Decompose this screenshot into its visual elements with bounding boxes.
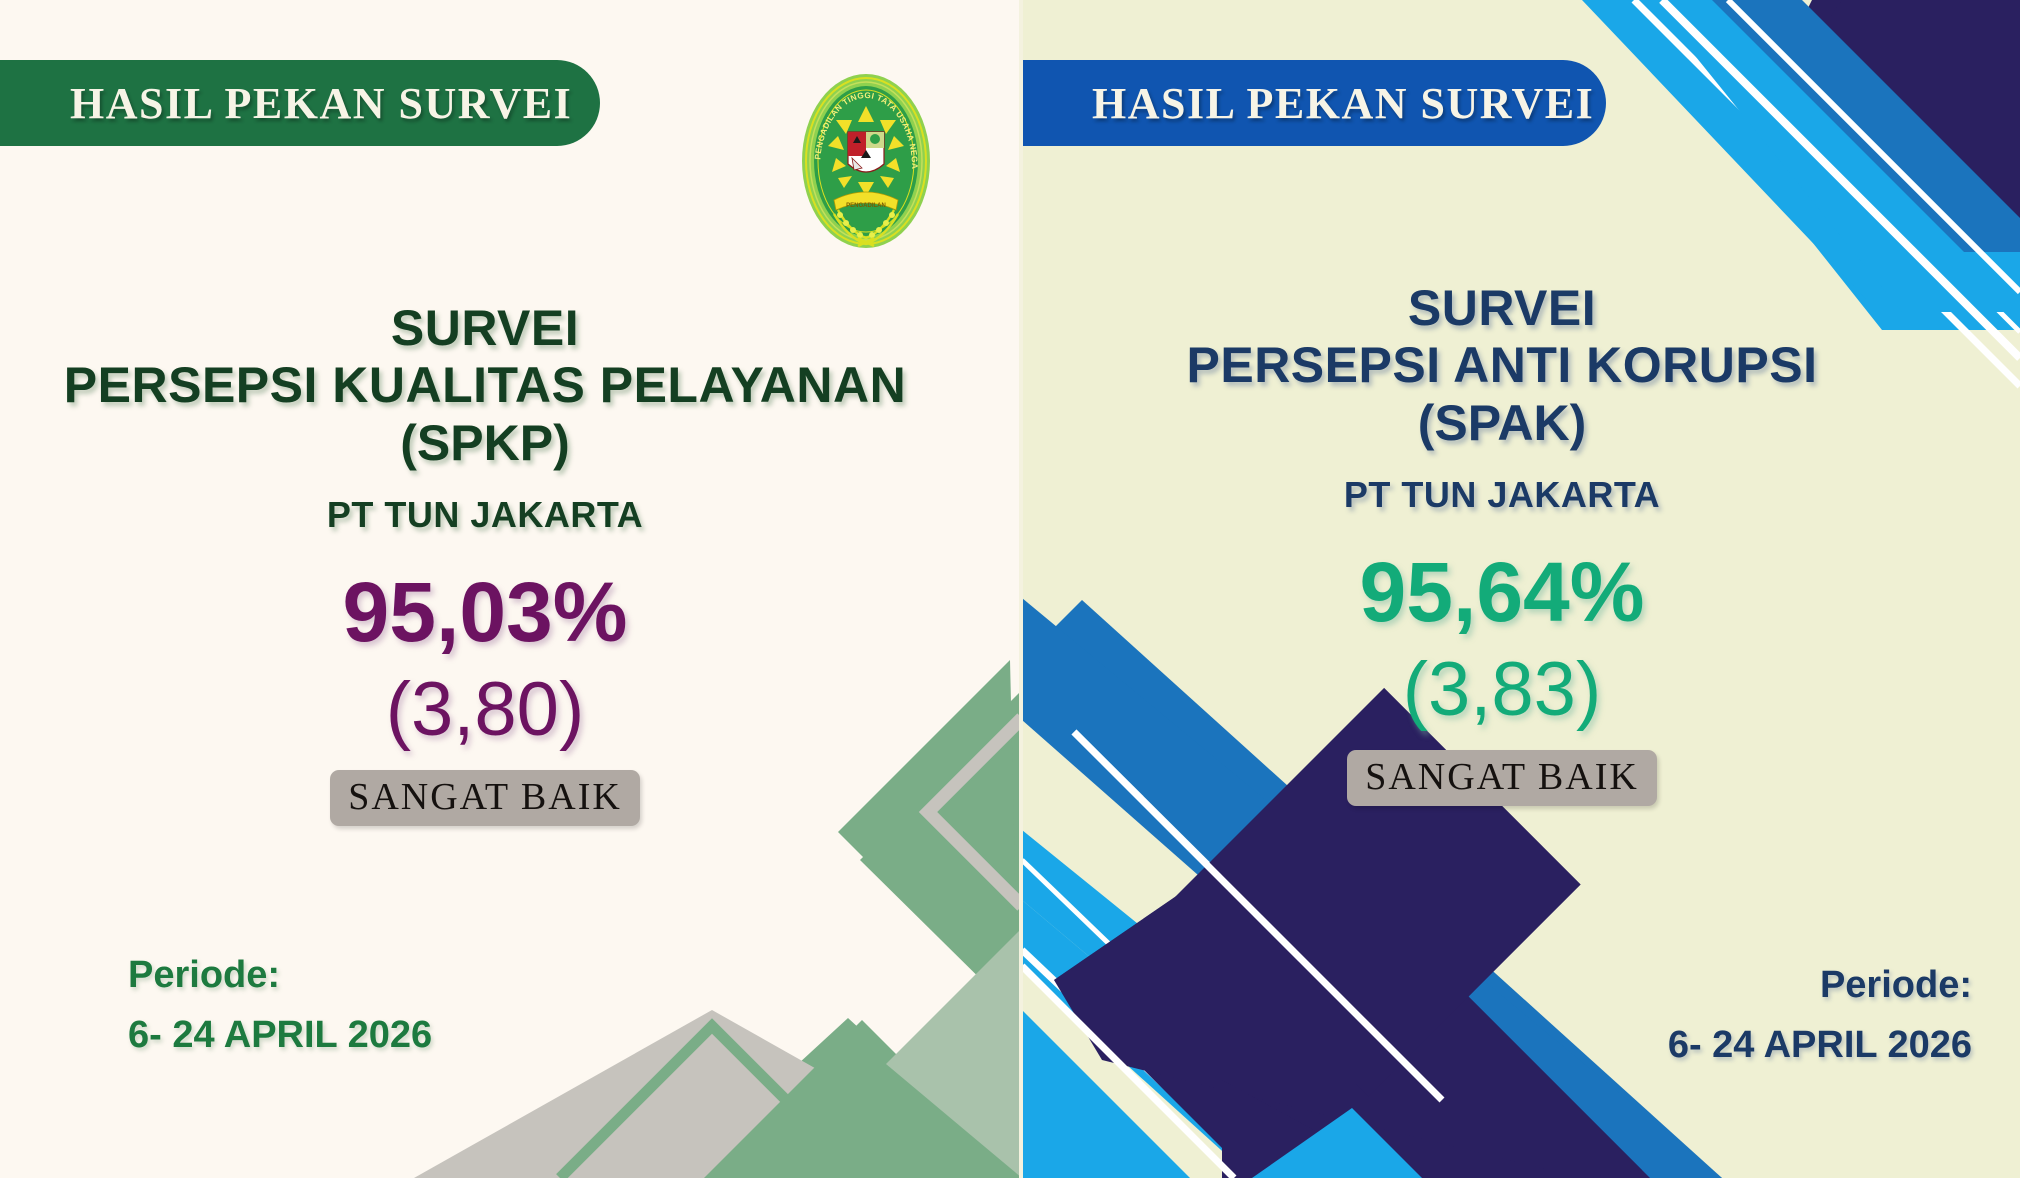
periode-block-spkp: Periode: 6- 24 APRIL 2026 bbox=[128, 945, 432, 1065]
status-badge: SANGAT BAIK bbox=[330, 770, 640, 826]
survey-score-value: (3,80) bbox=[60, 672, 910, 748]
svg-text:PENGADILAN: PENGADILAN bbox=[846, 203, 886, 209]
header-label: HASIL PEKAN SURVEI bbox=[70, 78, 572, 129]
status-badge: SANGAT BAIK bbox=[1347, 750, 1657, 806]
survey-title-line2: PERSEPSI KUALITAS PELAYANAN bbox=[60, 357, 910, 414]
rating-badge-row: SANGAT BAIK bbox=[1062, 750, 1942, 806]
survey-score-value: (3,83) bbox=[1062, 652, 1942, 728]
header-pill-spkp: HASIL PEKAN SURVEI bbox=[0, 60, 600, 146]
periode-label: Periode: bbox=[128, 945, 432, 1005]
survey-acronym: (SPAK) bbox=[1062, 394, 1942, 452]
pt-tun-jakarta-emblem-icon: PENGADILAN TINGGI TATA USAHA NEGARA JAKA… bbox=[800, 72, 932, 250]
header-pill-spak: HASIL PEKAN SURVEI bbox=[1022, 60, 1606, 146]
panel-divider bbox=[1019, 0, 1023, 1178]
survey-title-line2: PERSEPSI ANTI KORUPSI bbox=[1062, 337, 1942, 394]
panel-spak: HASIL PEKAN SURVEI PENGADILAN TINGGI TAT… bbox=[1022, 0, 2020, 1178]
survey-title-line1: SURVEI bbox=[60, 300, 910, 357]
periode-label: Periode: bbox=[1668, 955, 1972, 1015]
header-label: HASIL PEKAN SURVEI bbox=[1092, 78, 1594, 129]
institution-name: PT TUN JAKARTA bbox=[60, 494, 910, 536]
content-spkp: SURVEI PERSEPSI KUALITAS PELAYANAN (SPKP… bbox=[60, 300, 910, 826]
survey-acronym: (SPKP) bbox=[60, 414, 910, 472]
survey-results-poster: HASIL PEKAN SURVEI PENGADILAN TINGGI TAT… bbox=[0, 0, 2020, 1178]
content-spak: SURVEI PERSEPSI ANTI KORUPSI (SPAK) PT T… bbox=[1062, 280, 1942, 806]
panel-spkp: HASIL PEKAN SURVEI PENGADILAN TINGGI TAT… bbox=[0, 0, 1022, 1178]
periode-block-spak: Periode: 6- 24 APRIL 2026 bbox=[1668, 955, 1972, 1075]
periode-value: 6- 24 APRIL 2026 bbox=[128, 1005, 432, 1065]
periode-value: 6- 24 APRIL 2026 bbox=[1668, 1015, 1972, 1075]
survey-percent-value: 95,03% bbox=[60, 570, 910, 654]
survey-title-line1: SURVEI bbox=[1062, 280, 1942, 337]
institution-name: PT TUN JAKARTA bbox=[1062, 474, 1942, 516]
survey-percent-value: 95,64% bbox=[1062, 550, 1942, 634]
rating-badge-row: SANGAT BAIK bbox=[60, 770, 910, 826]
